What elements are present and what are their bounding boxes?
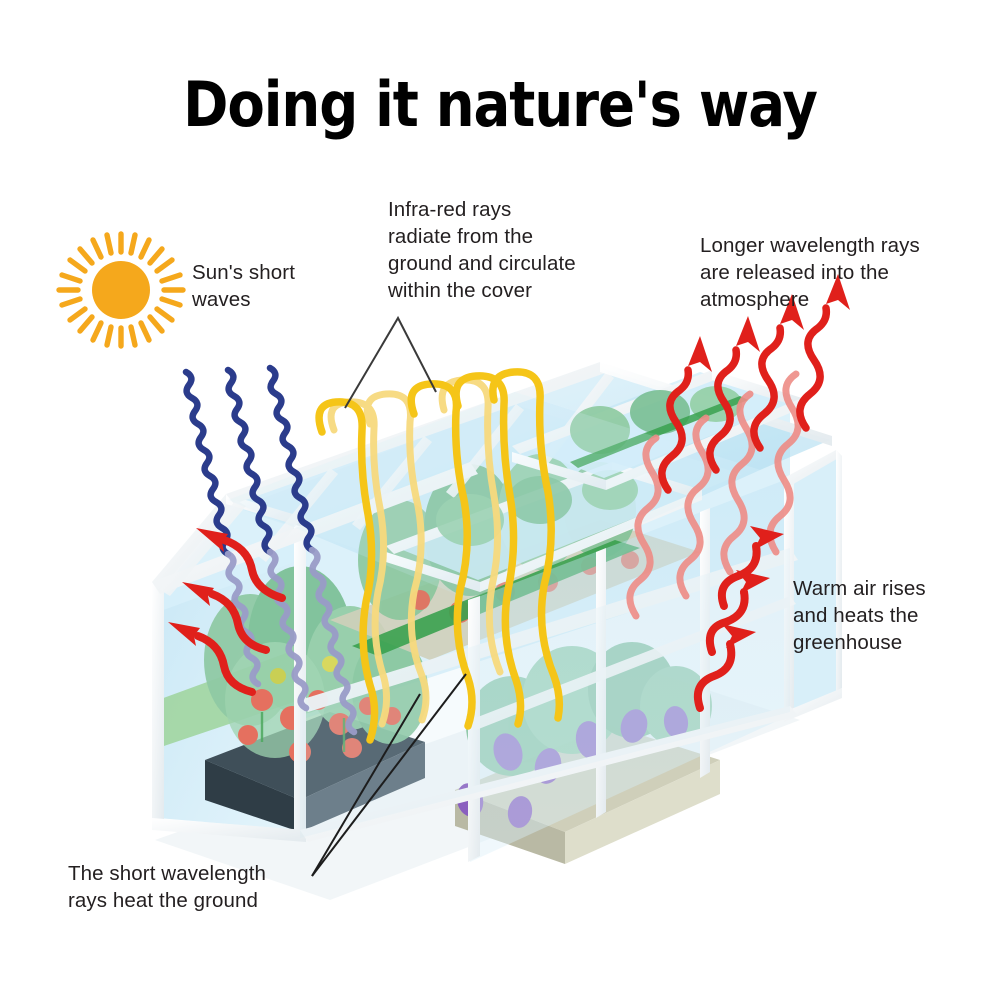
infographic-canvas: Doing it nature's way xyxy=(0,0,1000,1000)
caption-sun-short-waves: Sun's short waves xyxy=(192,259,295,313)
caption-warm-air-rises: Warm air rises and heats the greenhouse xyxy=(793,575,926,656)
caption-short-wavelength-ground: The short wavelength rays heat the groun… xyxy=(68,860,266,914)
sun-icon xyxy=(59,234,183,346)
greenhouse-illustration xyxy=(0,0,1000,1000)
caption-longer-wavelength: Longer wavelength rays are released into… xyxy=(700,232,920,313)
caption-infrared-circulation: Infra-red rays radiate from the ground a… xyxy=(388,196,576,304)
